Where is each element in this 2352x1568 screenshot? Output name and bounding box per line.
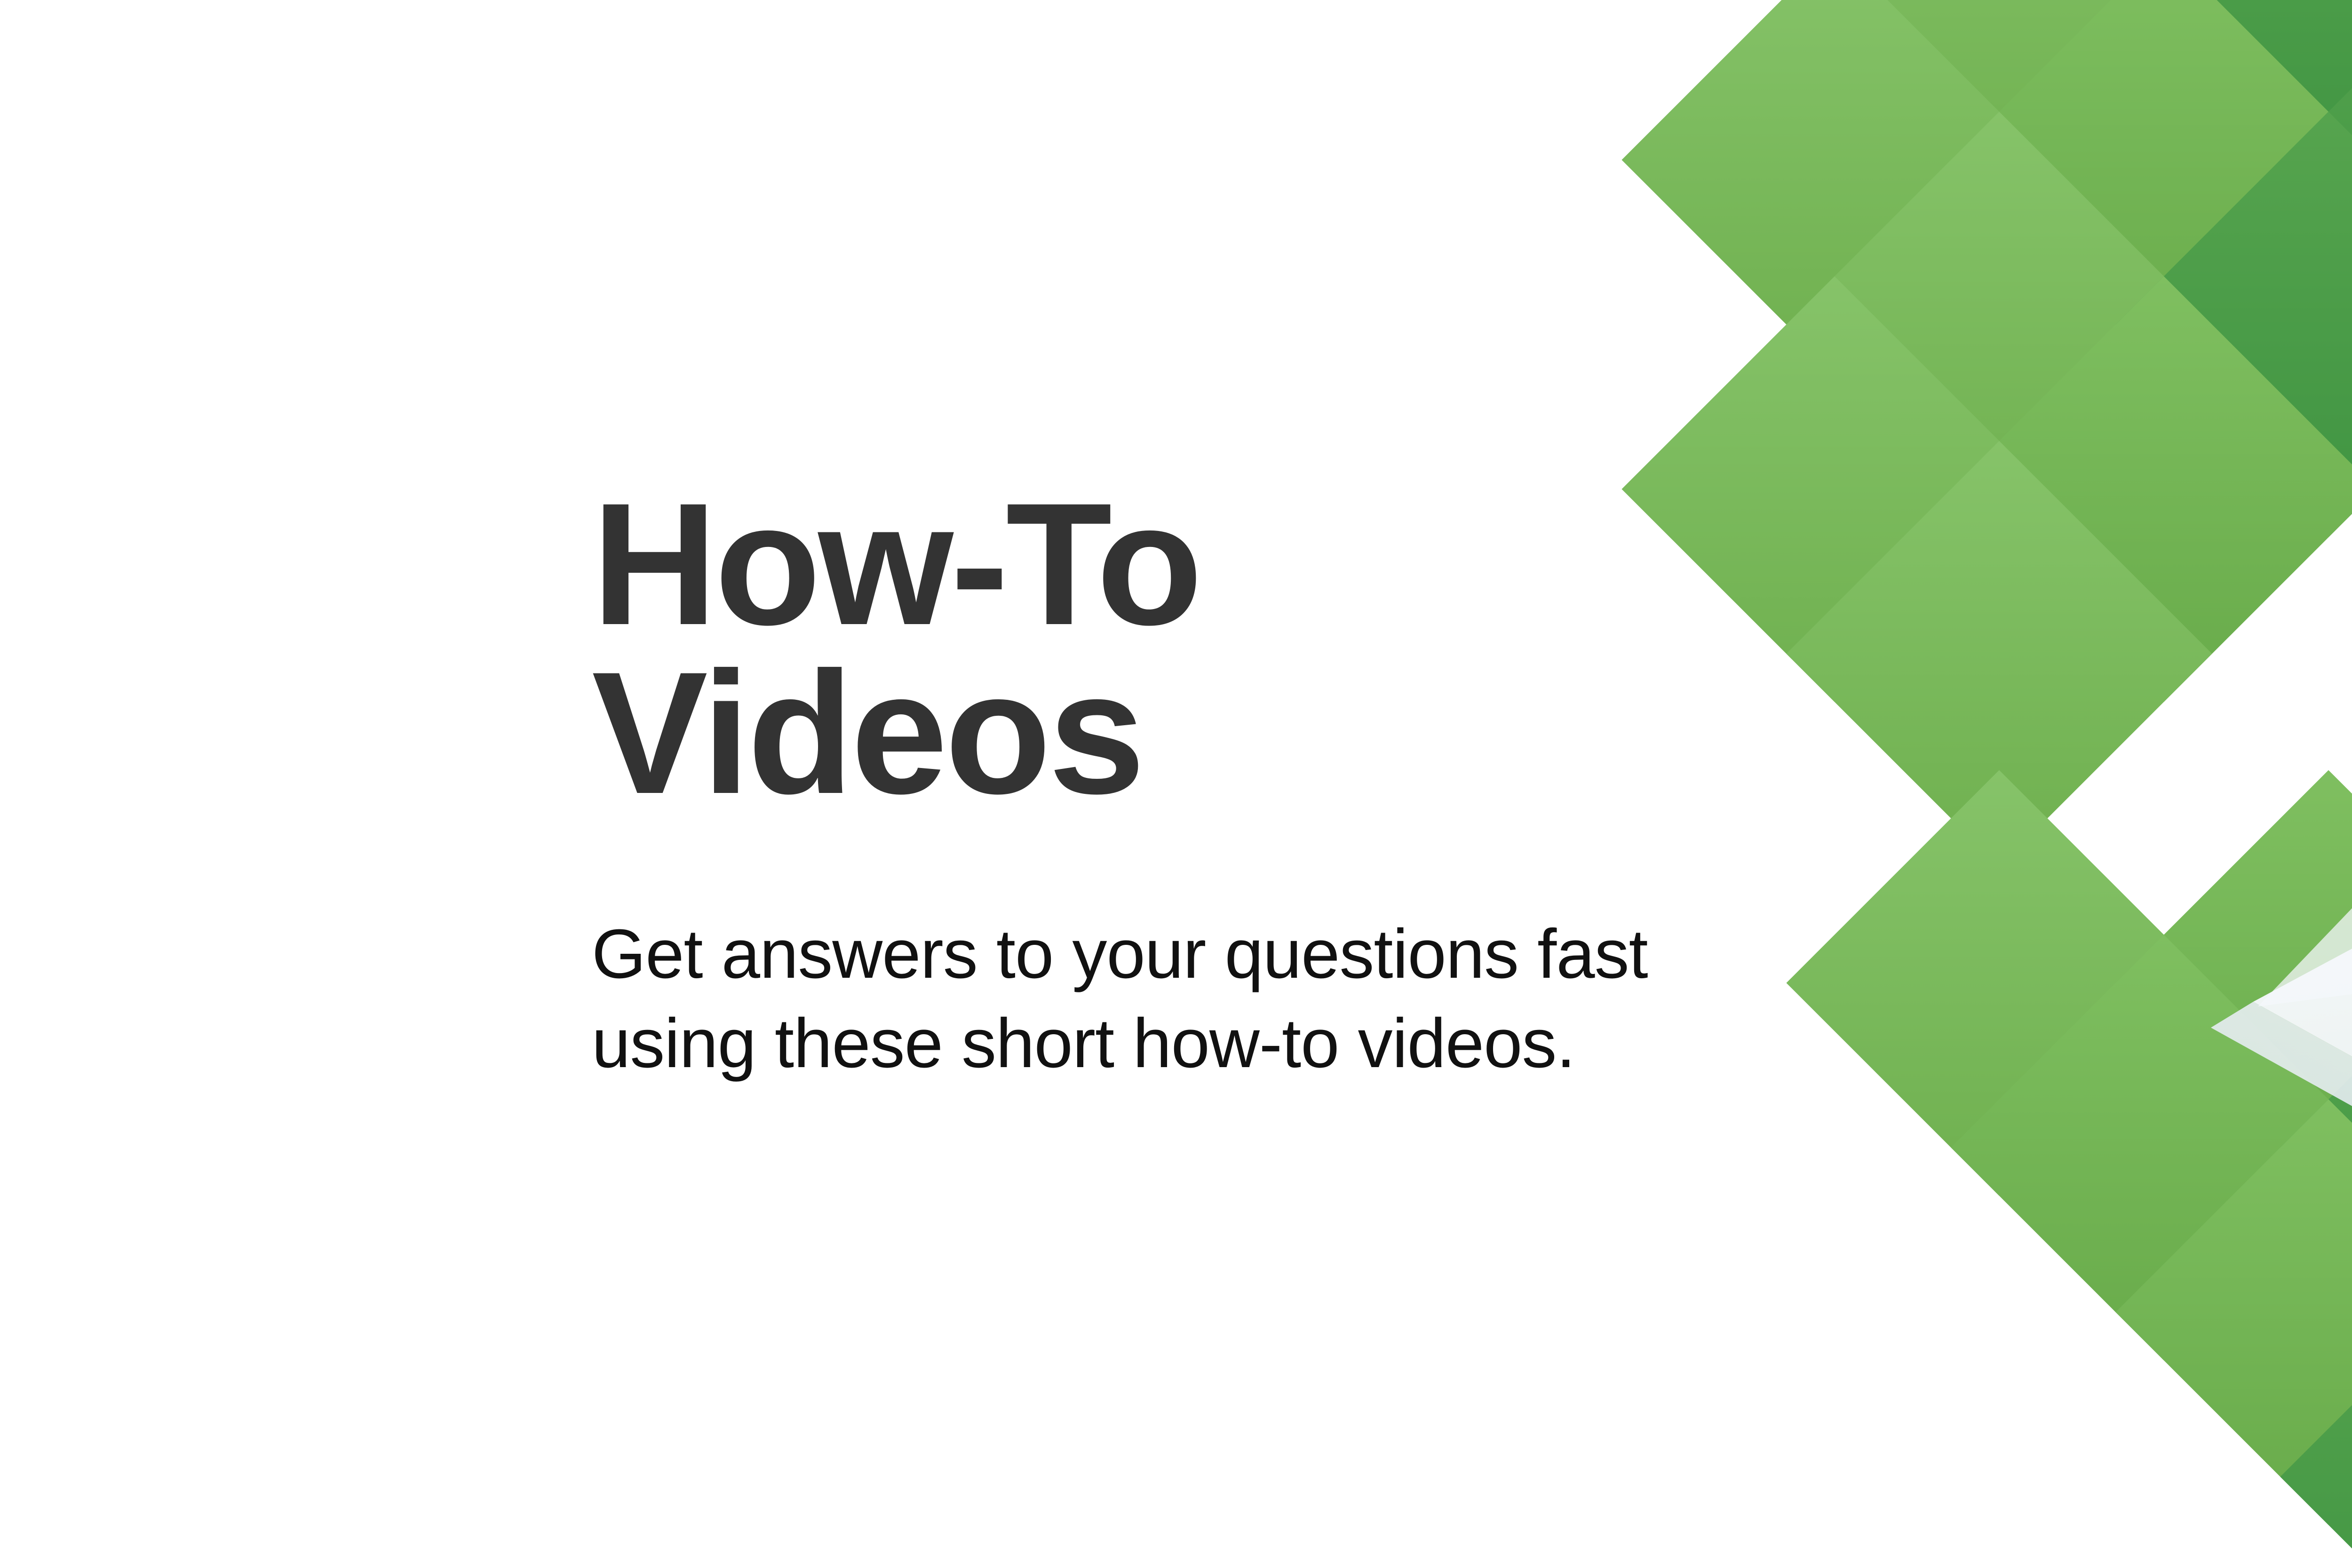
page-title: How-To Videos	[592, 480, 1768, 818]
page-subtitle: Get answers to your questions fast using…	[592, 910, 1768, 1088]
hero-text-panel: How-To Videos Get answers to your questi…	[592, 0, 1768, 1568]
how-to-videos-banner: How-To Videos Get answers to your questi…	[0, 0, 2352, 1568]
